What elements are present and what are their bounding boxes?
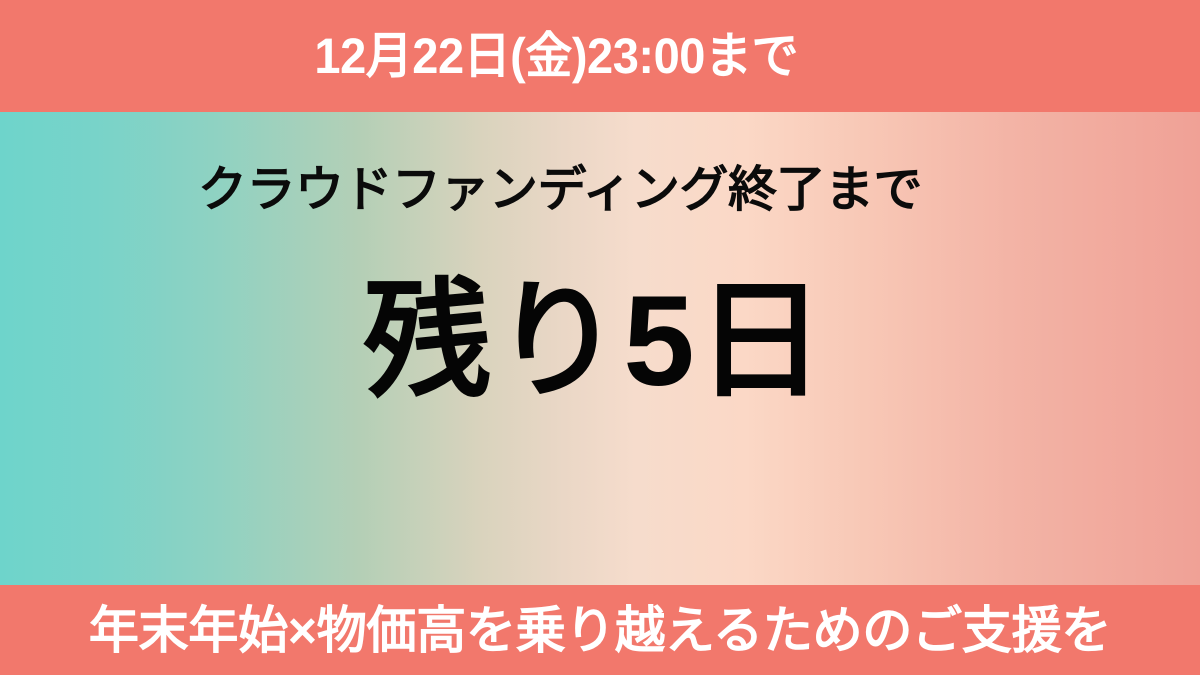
main-gradient-stage: クラウドファンディング終了まで 残り5日 [0,112,1200,585]
countdown-days-text: 残り5日 [0,278,1200,406]
top-deadline-banner: 12月22日(金)23:00まで [0,0,1200,112]
headline-text: クラウドファンディング終了まで [0,166,1200,215]
deadline-text: 12月22日(金)23:00まで [314,31,798,81]
countdown-poster: 12月22日(金)23:00まで クラウドファンディング終了まで 残り5日 年末… [0,0,1200,675]
appeal-text: 年末年始×物価高を乗り越えるためのご支援を [89,605,1111,656]
bottom-appeal-banner: 年末年始×物価高を乗り越えるためのご支援を [0,585,1200,675]
